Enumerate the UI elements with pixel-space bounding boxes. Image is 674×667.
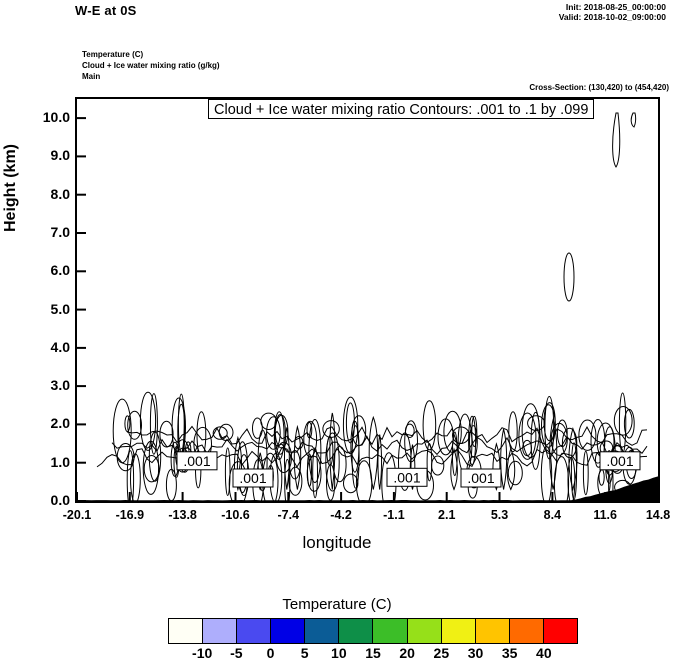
contour-label-text: .001	[606, 453, 633, 469]
y-tick-label: 0.0	[24, 492, 70, 508]
colorbar-swatch-6	[373, 619, 407, 643]
x-tick-label: 5.3	[477, 508, 523, 522]
contour-label-text: .001	[467, 470, 494, 486]
x-tick-label: -20.1	[54, 508, 100, 522]
y-tick-label: 10.0	[24, 109, 70, 125]
x-tick-label: -4.2	[318, 508, 364, 522]
y-axis-title: Height (km)	[2, 144, 20, 232]
x-tick-label: 8.4	[529, 508, 575, 522]
colorbar-title: Temperature (C)	[0, 596, 674, 613]
x-tick-label: 2.1	[424, 508, 470, 522]
init-time-label: Init: 2018-08-25_00:00:00	[566, 2, 666, 12]
x-axis-ticks: -20.1-16.9-13.8-10.6-7.4-4.2-1.12.15.38.…	[75, 508, 660, 526]
colorbar-swatch-9	[476, 619, 510, 643]
x-tick-label: -1.1	[371, 508, 417, 522]
y-tick-label: 5.0	[24, 301, 70, 317]
colorbar-swatch-0	[169, 619, 203, 643]
colorbar-swatch-10	[510, 619, 544, 643]
colorbar-swatch-8	[442, 619, 476, 643]
x-tick-label: -13.8	[160, 508, 206, 522]
colorbar-swatch-3	[271, 619, 305, 643]
colorbar-swatch-11	[544, 619, 577, 643]
x-tick-label: -7.4	[265, 508, 311, 522]
colorbar	[168, 618, 578, 644]
colorbar-tick-label: 40	[524, 645, 564, 661]
colorbar-swatch-7	[408, 619, 442, 643]
colorbar-swatch-4	[305, 619, 339, 643]
y-tick-label: 8.0	[24, 186, 70, 202]
y-tick-label: 7.0	[24, 224, 70, 240]
x-tick-label: -10.6	[212, 508, 258, 522]
y-tick-label: 9.0	[24, 147, 70, 163]
y-tick-label: 6.0	[24, 262, 70, 278]
variable-info-block: Temperature (C) Cloud + Ice water mixing…	[82, 49, 220, 82]
contour-label-text: .001	[239, 470, 266, 486]
cross-section-plot: .001.001.001.001.001	[77, 99, 658, 501]
contour-label-text: .001	[183, 453, 210, 469]
y-tick-label: 1.0	[24, 454, 70, 470]
plot-area: .001.001.001.001.001 Cloud + Ice water m…	[75, 97, 660, 503]
x-tick-label: 11.6	[582, 508, 628, 522]
valid-time-label: Valid: 2018-10-02_09:00:00	[559, 12, 666, 22]
x-tick-label: 14.8	[635, 508, 674, 522]
variable-level-label: Main	[82, 71, 220, 82]
variable-temperature-label: Temperature (C)	[82, 49, 220, 60]
x-tick-label: -16.9	[107, 508, 153, 522]
y-tick-label: 2.0	[24, 415, 70, 431]
variable-mixing-ratio-label: Cloud + Ice water mixing ratio (g/kg)	[82, 60, 220, 71]
colorbar-labels: -10-50510152025303540	[168, 645, 578, 665]
contour-label-text: .001	[393, 469, 420, 485]
y-tick-label: 3.0	[24, 377, 70, 393]
x-axis-title: longitude	[0, 533, 674, 553]
y-tick-label: 4.0	[24, 339, 70, 355]
cross-section-label: Cross-Section: (130,420) to (454,420)	[529, 83, 669, 92]
colorbar-swatch-5	[339, 619, 373, 643]
colorbar-swatch-1	[203, 619, 237, 643]
contour-title-box: Cloud + Ice water mixing ratio Contours:…	[208, 99, 594, 119]
colorbar-swatch-2	[237, 619, 271, 643]
page-title: W-E at 0S	[75, 3, 137, 18]
y-axis-ticks: 10.09.08.07.06.05.04.03.02.01.00.0	[24, 97, 70, 503]
